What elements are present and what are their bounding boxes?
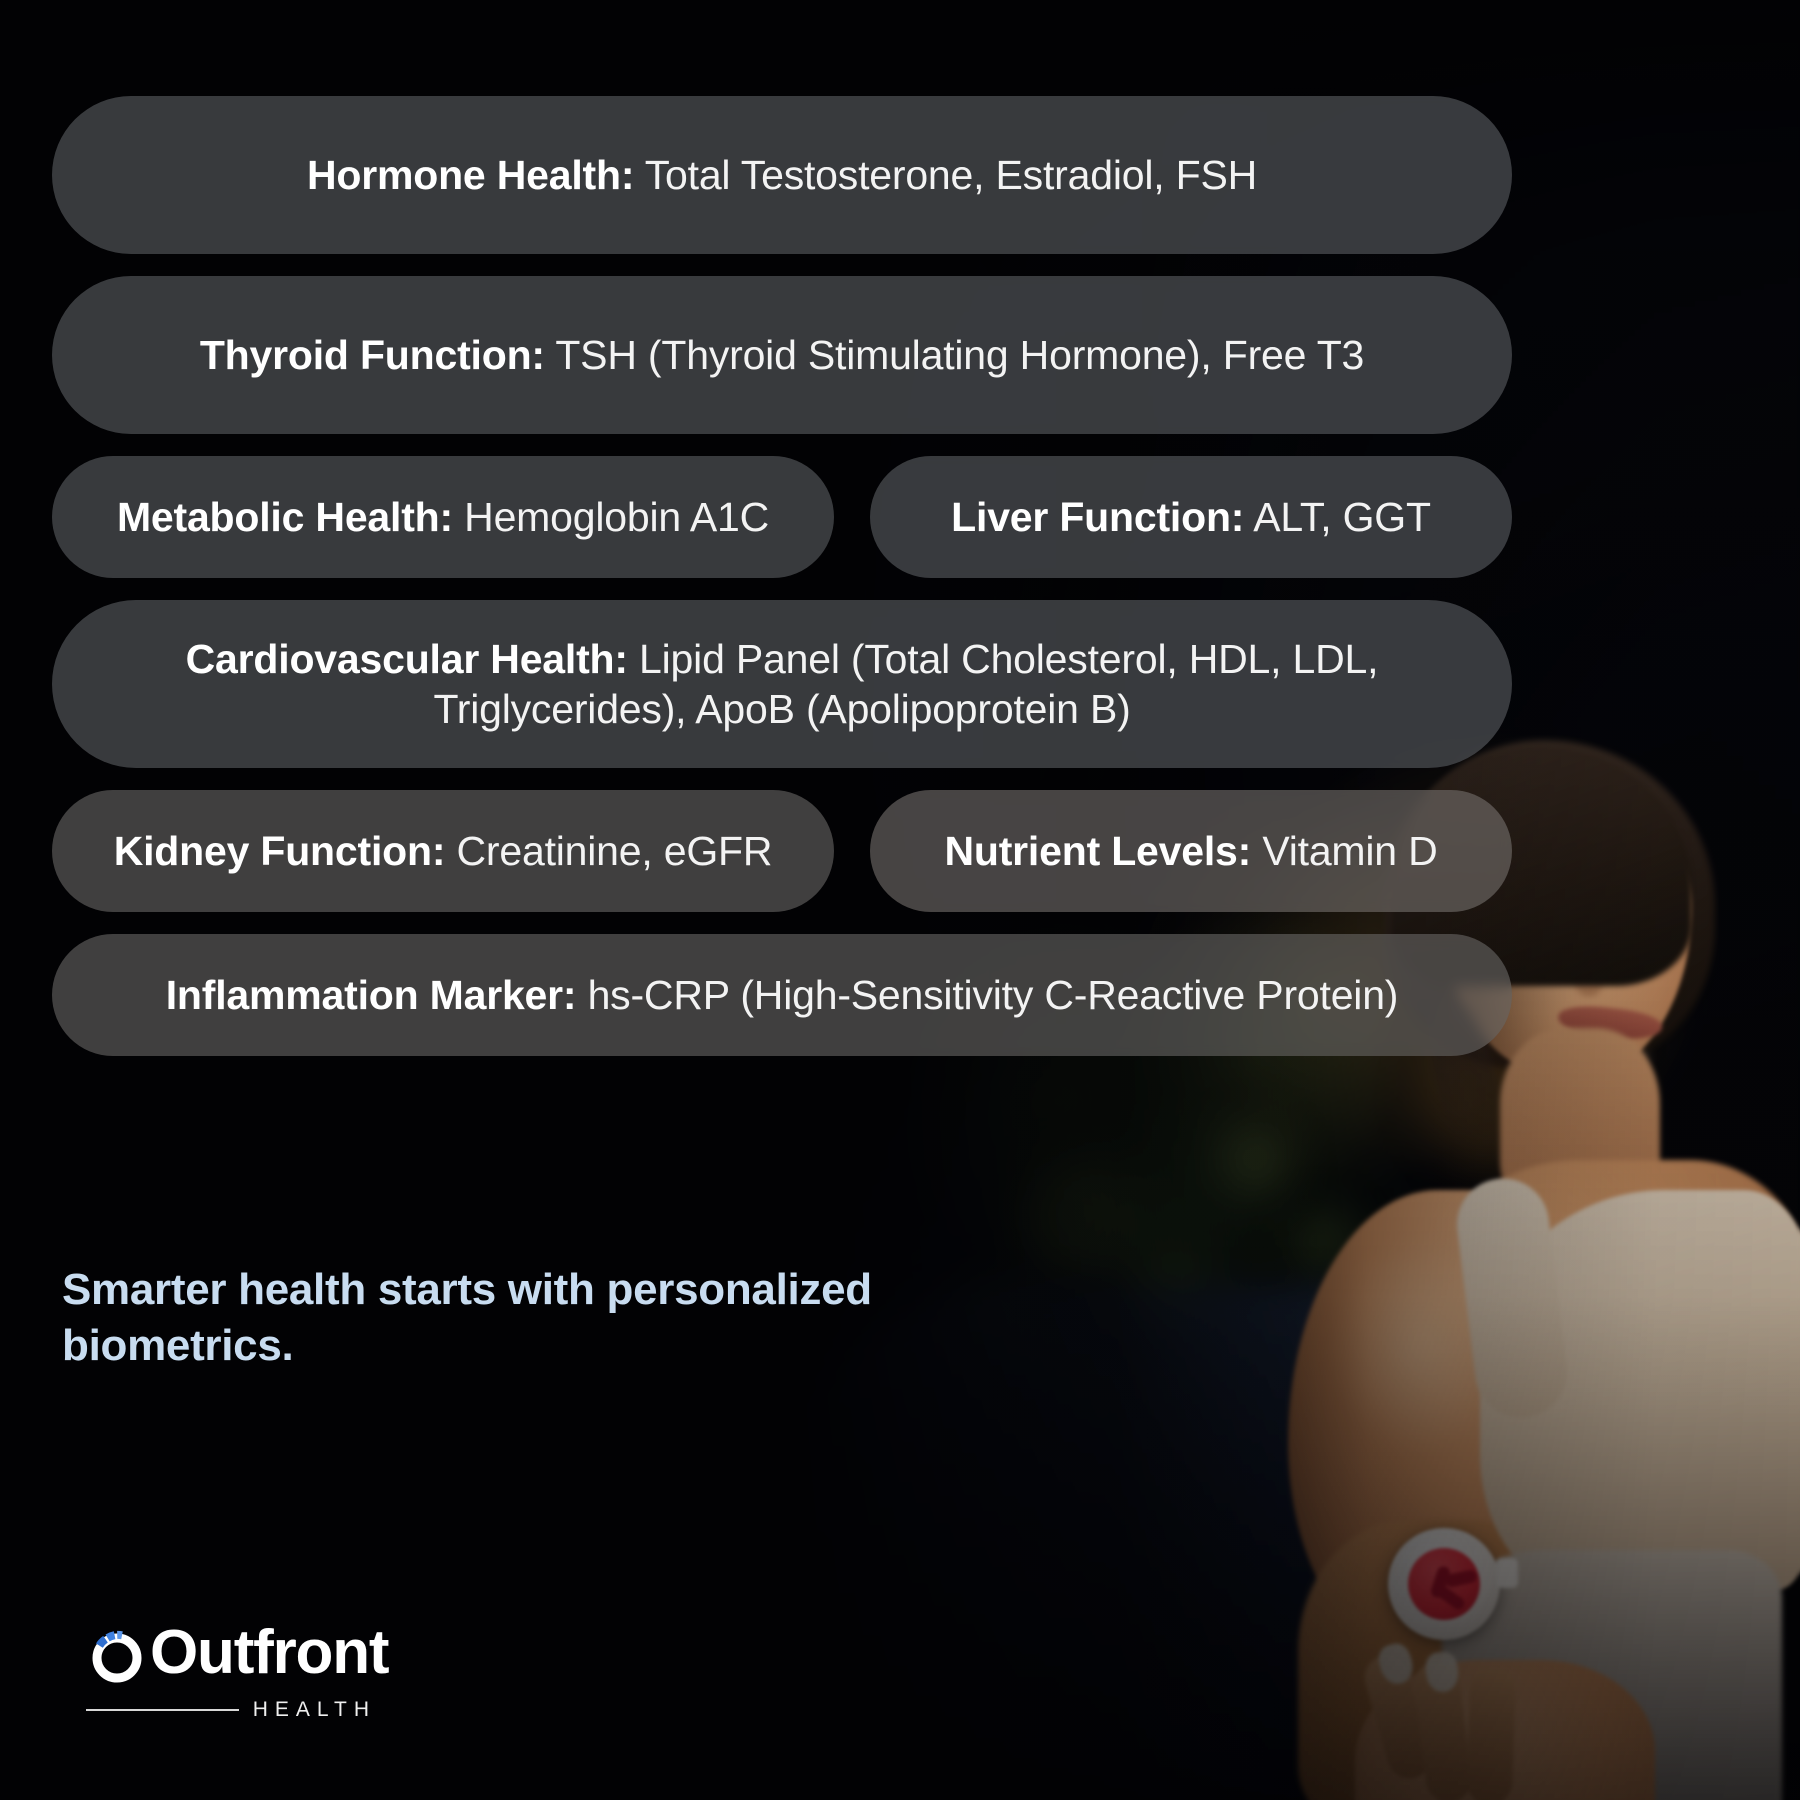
panel-label: Metabolic Health: <box>117 494 453 540</box>
panel-thyroid-function[interactable]: Thyroid Function: TSH (Thyroid Stimulati… <box>52 276 1512 434</box>
tagline: Smarter health starts with personalized … <box>62 1262 1022 1375</box>
panel-kidney-function[interactable]: Kidney Function: Creatinine, eGFR <box>52 790 834 912</box>
panel-value: Vitamin D <box>1262 828 1437 874</box>
panel-cardiovascular-health[interactable]: Cardiovascular Health: Lipid Panel (Tota… <box>52 600 1512 768</box>
panel-label: Kidney Function: <box>114 828 446 874</box>
panel-value: Total Testosterone, Estradiol, FSH <box>645 152 1257 198</box>
promo-poster: Hormone Health: Total Testosterone, Estr… <box>0 0 1800 1800</box>
panel-nutrient-levels[interactable]: Nutrient Levels: Vitamin D <box>870 790 1512 912</box>
logo-name: Outfront <box>150 1622 388 1684</box>
pill-row: Cardiovascular Health: Lipid Panel (Tota… <box>52 600 1512 768</box>
panel-liver-function[interactable]: Liver Function: ALT, GGT <box>870 456 1512 578</box>
panel-value: Hemoglobin A1C <box>464 494 769 540</box>
panel-inflammation-marker[interactable]: Inflammation Marker: hs-CRP (High-Sensit… <box>52 934 1512 1056</box>
panel-value: TSH (Thyroid Stimulating Hormone), Free … <box>555 332 1364 378</box>
panel-label: Inflammation Marker: <box>166 972 577 1018</box>
biomarker-panel-list: Hormone Health: Total Testosterone, Estr… <box>52 96 1512 1078</box>
panel-label: Cardiovascular Health: <box>186 636 628 682</box>
panel-value: hs-CRP (High-Sensitivity C-Reactive Prot… <box>588 972 1399 1018</box>
pill-row: Inflammation Marker: hs-CRP (High-Sensit… <box>52 934 1512 1056</box>
device-tab <box>1496 1558 1518 1588</box>
panel-value: Creatinine, eGFR <box>457 828 773 874</box>
finger <box>1466 1667 1517 1800</box>
logo-subline: HEALTH <box>86 1698 376 1722</box>
panel-label: Hormone Health: <box>307 152 634 198</box>
outfront-o-arc-icon <box>86 1622 148 1684</box>
logo-subtitle: HEALTH <box>253 1698 376 1722</box>
pill-row: Kidney Function: Creatinine, eGFR Nutrie… <box>52 790 1512 912</box>
pill-row: Thyroid Function: TSH (Thyroid Stimulati… <box>52 276 1512 434</box>
panel-metabolic-health[interactable]: Metabolic Health: Hemoglobin A1C <box>52 456 834 578</box>
pill-row: Hormone Health: Total Testosterone, Estr… <box>52 96 1512 254</box>
panel-label: Nutrient Levels: <box>944 828 1251 874</box>
bokeh-light <box>1020 1160 1140 1280</box>
logo-wordmark: Outfront <box>86 1612 506 1684</box>
panel-label: Thyroid Function: <box>200 332 545 378</box>
logo-divider <box>86 1709 239 1711</box>
panel-value: ALT, GGT <box>1253 494 1431 540</box>
pill-row: Metabolic Health: Hemoglobin A1C Liver F… <box>52 456 1512 578</box>
brand-logo[interactable]: Outfront HEALTH <box>86 1612 506 1722</box>
panel-hormone-health[interactable]: Hormone Health: Total Testosterone, Estr… <box>52 96 1512 254</box>
panel-label: Liver Function: <box>951 494 1244 540</box>
